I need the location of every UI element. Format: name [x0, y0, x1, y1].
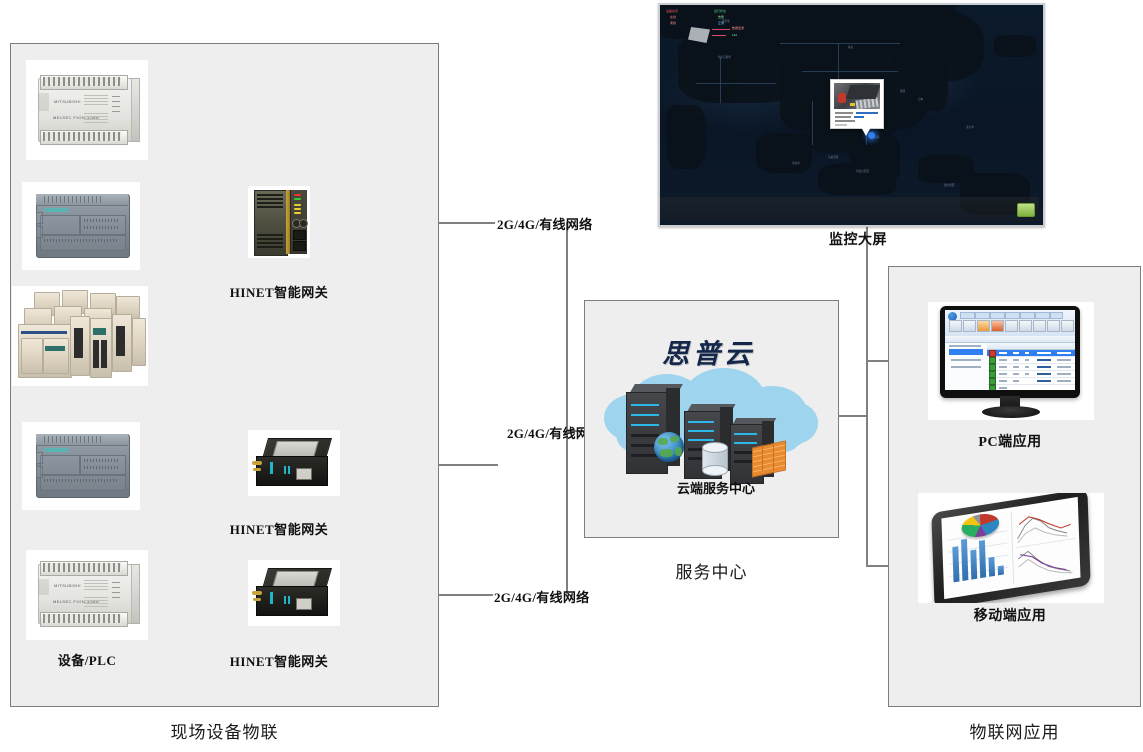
- menu-item: [990, 312, 1005, 319]
- tablet-app-screen: [941, 497, 1080, 599]
- tree-item-selected: [949, 349, 983, 355]
- field-panel-caption: 现场设备物联: [10, 718, 439, 743]
- gateway-2-caption: HINET智能网关: [209, 519, 349, 538]
- status-indicator: [989, 364, 996, 371]
- pie-chart: [961, 511, 999, 539]
- network-label-3: 2G/4G/有线网络: [494, 587, 589, 606]
- bar: [961, 539, 968, 581]
- map-label: 太平洋: [966, 125, 974, 129]
- menu-item: [1020, 312, 1035, 319]
- device-pc-monitor: [928, 302, 1094, 420]
- connector-appbus-v: [866, 221, 868, 565]
- gateway-antenna-2: [253, 468, 261, 471]
- toolbar-button: [991, 320, 1004, 332]
- hud-legend-alarm: 告警: [718, 15, 724, 19]
- toolbar-button: [1033, 320, 1046, 332]
- toolbar-button: [1061, 320, 1074, 332]
- screen-bottom-bar: [660, 197, 1039, 221]
- device-tablet: [918, 493, 1104, 603]
- popup-text-line: [835, 112, 853, 114]
- status-indicator: [989, 371, 996, 378]
- menu-item: [975, 312, 990, 319]
- network-label-1: 2G/4G/有线网络: [497, 214, 592, 233]
- hud-legend-online: 在线: [670, 15, 676, 19]
- big-screen-caption: 监控大屏: [808, 229, 908, 249]
- database-icon: [702, 442, 726, 472]
- popup-text-line: [835, 124, 847, 126]
- connector-cloud-right: [838, 415, 868, 417]
- map-label: 日本: [918, 97, 923, 101]
- cloud-service-center: 思普云: [596, 330, 828, 500]
- map-label: 韩国: [900, 89, 905, 93]
- device-siemens-plc: SIEMENS: [22, 182, 140, 270]
- gateway-din-rail: [248, 186, 310, 258]
- gateway-led-amber-1: [294, 204, 301, 206]
- menu-item: [1050, 312, 1063, 319]
- gateway-antenna: [252, 461, 262, 465]
- gateway-ethernet-port-2: [293, 241, 306, 251]
- cloud-sub-caption: 云端服务中心: [661, 478, 771, 497]
- gateway-antenna-2: [253, 598, 261, 601]
- pc-app-caption: PC端应用: [945, 431, 1075, 451]
- cloud-brand-logo: 思普云: [662, 332, 755, 371]
- device-mitsubishi-plc: MITSUBISHI MELSEC FX2N-32MR: [26, 60, 148, 160]
- hud-legend-normal: 正常: [718, 21, 724, 25]
- toolbar-button: [1019, 320, 1032, 332]
- tablet-app-caption: 移动端应用: [945, 605, 1075, 625]
- popup-text-line: [856, 112, 878, 114]
- server-rack-1: [626, 384, 688, 472]
- toolbar-button: [1005, 320, 1018, 332]
- map-label: 马来西亚: [828, 155, 838, 159]
- pc-app-screen: [945, 310, 1075, 390]
- gateway-led-green: [294, 198, 301, 200]
- map-label: 澳大利亚: [944, 183, 954, 187]
- gateway-antenna-b: [299, 219, 308, 228]
- map-label: 蒙古: [848, 45, 853, 49]
- gateway-black-box-1: [248, 430, 340, 496]
- status-indicator: [989, 350, 996, 357]
- hud-panel: 设备总览 运行状态 在线 离线 告警 正常 数据监测 142: [666, 9, 776, 39]
- device-siemens-plc-2: SIEMENS: [22, 422, 140, 510]
- bar: [988, 557, 995, 577]
- toolbar-button: [977, 320, 990, 332]
- gateway-led-amber-3: [294, 212, 301, 214]
- map-label: 哈萨克斯坦: [718, 55, 731, 59]
- popup-text-line: [854, 116, 864, 118]
- gateway-led-amber-2: [294, 208, 301, 210]
- world-map-display: 俄罗斯 蒙古 中国 日本 韩国 哈萨克斯坦 马来西亚 印度尼西亚 澳大利亚 太平…: [660, 5, 1043, 225]
- service-panel-caption: 服务中心: [584, 558, 839, 583]
- apps-panel-caption: 物联网应用: [888, 718, 1141, 743]
- toolbar-button: [963, 320, 976, 332]
- device-photo: [834, 83, 880, 109]
- toolbar-button: [949, 320, 962, 332]
- bar: [952, 546, 959, 582]
- hud-legend-offline: 离线: [670, 21, 676, 25]
- gateway-1-caption: HINET智能网关: [209, 282, 349, 301]
- map-label: 印度尼西亚: [856, 169, 869, 173]
- map-label: 印度洋: [792, 161, 800, 165]
- firewall-icon: [752, 444, 784, 474]
- device-plc-caption: 设备/PLC: [17, 650, 157, 669]
- hud-title-left: 设备总览: [666, 9, 678, 13]
- hud-title-right: 运行状态: [714, 9, 726, 13]
- monitoring-big-screen: 俄罗斯 蒙古 中国 日本 韩国 哈萨克斯坦 马来西亚 印度尼西亚 澳大利亚 太平…: [658, 3, 1045, 227]
- device-mitsubishi-plc-2: MITSUBISHI MELSEC FX2N-32MR: [26, 550, 148, 640]
- device-beige-rack-plc: [12, 286, 148, 386]
- bar: [998, 565, 1004, 575]
- screen-status-button[interactable]: [1017, 203, 1035, 217]
- globe-icon: [654, 432, 684, 462]
- menu-item: [1035, 312, 1050, 319]
- bar: [979, 540, 986, 578]
- gateway-port: [296, 468, 312, 480]
- gateway-ethernet-port-1: [293, 230, 306, 240]
- toolbar-button: [1047, 320, 1060, 332]
- status-indicator: [989, 385, 996, 390]
- menu-item: [1005, 312, 1020, 319]
- gateway-port: [296, 598, 312, 610]
- diagram-canvas: 现场设备物联 MITSUBISHI MELSEC FX2N-32MR SIEME…: [0, 0, 1143, 752]
- gateway-led-red: [294, 194, 301, 196]
- bar: [970, 549, 977, 579]
- status-indicator: [989, 357, 996, 364]
- gateway-3-caption: HINET智能网关: [209, 651, 349, 670]
- gateway-antenna: [252, 591, 262, 595]
- connector-net3-v: [566, 430, 568, 594]
- device-popup-card: [830, 79, 884, 129]
- popup-text-line: [835, 116, 851, 118]
- connector-net1-v: [566, 222, 568, 430]
- status-indicator: [989, 378, 996, 385]
- popup-text-line: [835, 120, 855, 122]
- menu-item: [960, 312, 975, 319]
- gateway-black-box-2: [248, 560, 340, 626]
